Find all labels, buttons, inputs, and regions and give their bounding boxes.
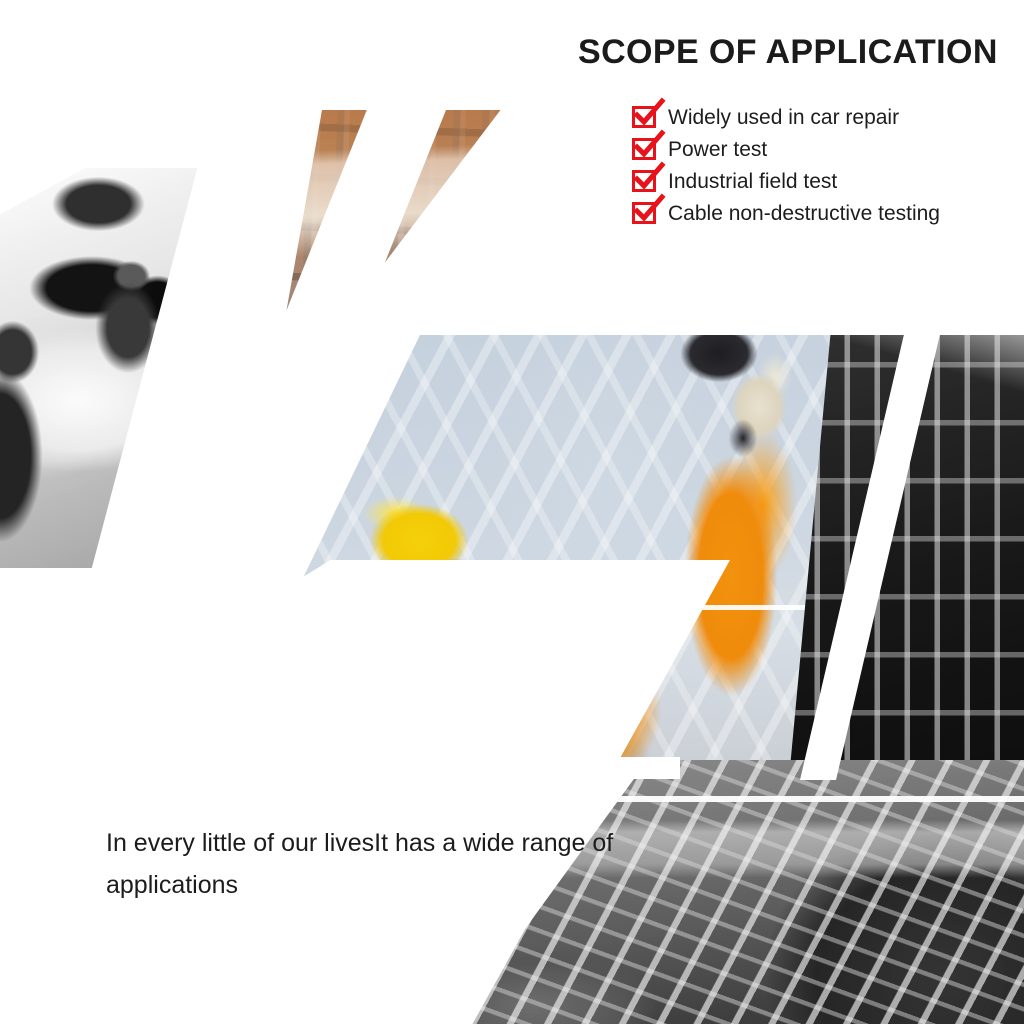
- page-title: SCOPE OF APPLICATION: [578, 33, 1024, 72]
- white-strip-divider: [120, 757, 680, 779]
- checkbox-checked-icon: [632, 202, 656, 224]
- list-item: Cable non-destructive testing: [632, 197, 1024, 229]
- checkbox-checked-icon: [632, 106, 656, 128]
- list-item-label: Power test: [668, 139, 767, 160]
- list-item: Industrial field test: [632, 165, 1024, 197]
- application-scope-banner: SCOPE OF APPLICATION Widely used in car …: [0, 0, 1024, 1024]
- list-item: Power test: [632, 133, 1024, 165]
- list-item-label: Industrial field test: [668, 171, 837, 192]
- checkbox-checked-icon: [632, 138, 656, 160]
- caption-text: In every little of our livesIt has a wid…: [106, 822, 626, 906]
- list-item: Widely used in car repair: [632, 101, 1024, 133]
- checkbox-checked-icon: [632, 170, 656, 192]
- feature-list: Widely used in car repair Power test Ind…: [632, 101, 1024, 229]
- list-item-label: Cable non-destructive testing: [668, 203, 940, 224]
- list-item-label: Widely used in car repair: [668, 107, 899, 128]
